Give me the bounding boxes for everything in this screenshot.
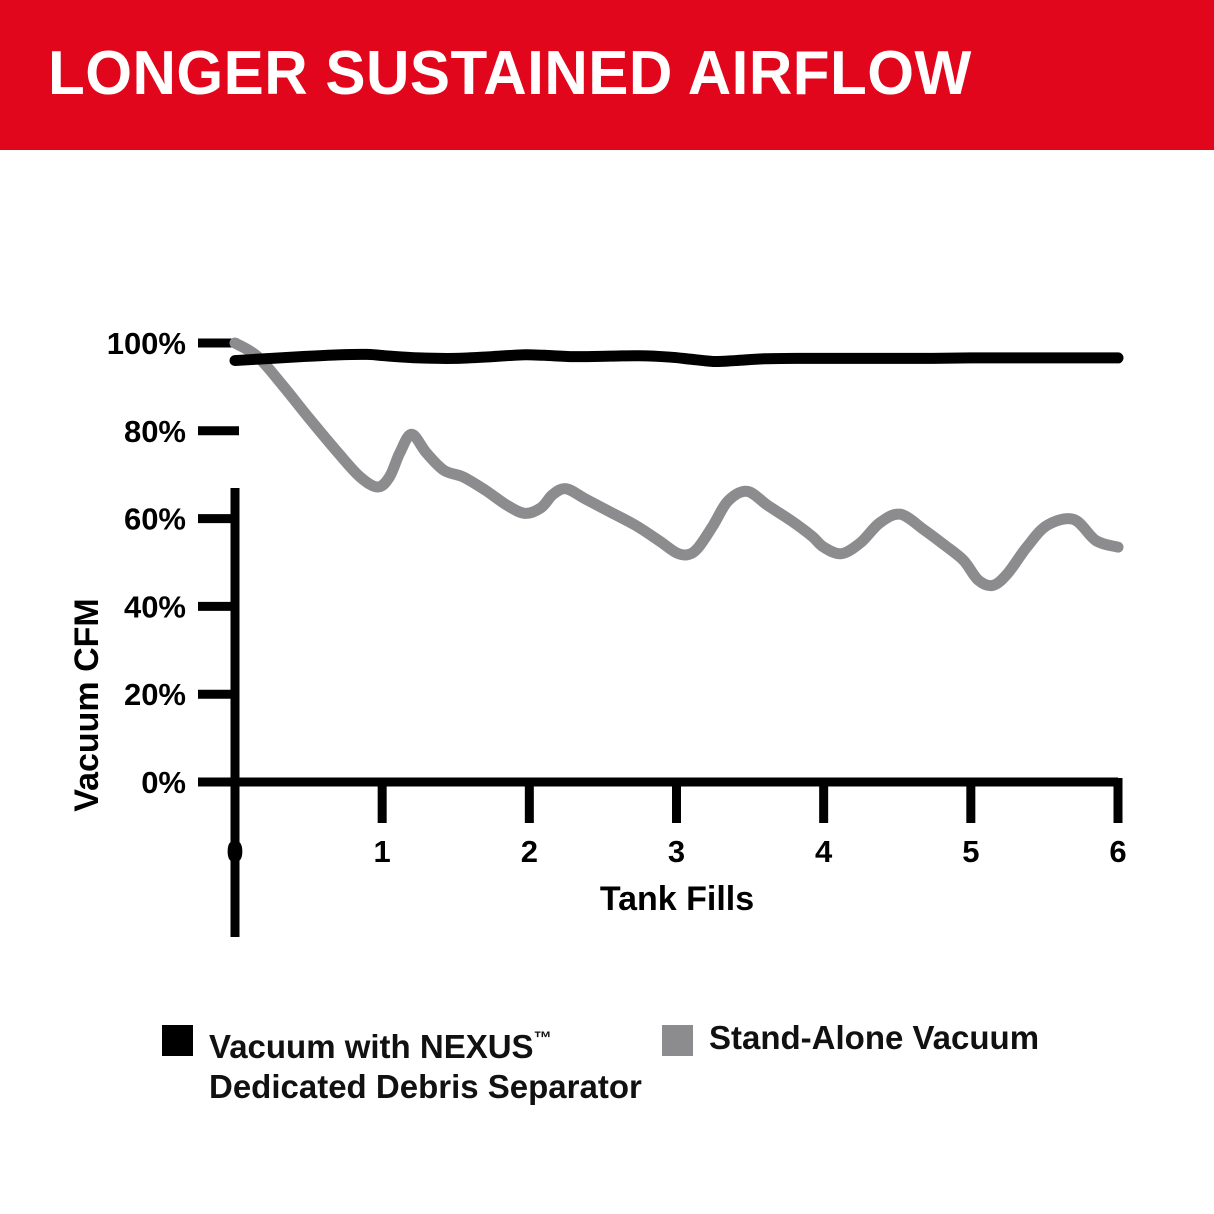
x-tick-label: 3 xyxy=(668,834,685,869)
legend-label-nexus: Vacuum with NEXUS™Dedicated Debris Separ… xyxy=(209,1018,642,1107)
series-stand-alone-vacuum-line xyxy=(235,343,1118,586)
chart-page: LONGER SUSTAINED AIRFLOW Vacuum CFM 100%… xyxy=(0,0,1214,1214)
y-tick-label: 20% xyxy=(124,677,186,712)
y-tick-label: 0% xyxy=(141,765,186,800)
y-tick-labels: 100%80%60%40%20%0% xyxy=(107,326,186,800)
legend-label-nexus-line1: Vacuum with NEXUS xyxy=(209,1028,534,1065)
x-tick-label: 4 xyxy=(815,834,833,869)
y-axis-title-text: Vacuum CFM xyxy=(68,598,106,811)
x-axis-title-text: Tank Fills xyxy=(600,880,754,918)
x-tick-label: 1 xyxy=(374,834,391,869)
series-nexus-vacuum-line xyxy=(235,354,1118,361)
chart-container: Vacuum CFM 100%80%60%40%20%0% 0123456 Ta… xyxy=(0,150,1214,1050)
banner-title: LONGER SUSTAINED AIRFLOW xyxy=(48,38,972,110)
legend-item-standalone: Stand-Alone Vacuum xyxy=(662,1018,1039,1058)
legend-item-nexus: Vacuum with NEXUS™Dedicated Debris Separ… xyxy=(162,1018,642,1107)
x-tick-label: 2 xyxy=(521,834,538,869)
chart-legend: Vacuum with NEXUS™Dedicated Debris Separ… xyxy=(0,1018,1214,1138)
y-axis-title: Vacuum CFM xyxy=(68,598,106,811)
y-tick-label: 60% xyxy=(124,502,186,537)
legend-swatch-black xyxy=(162,1025,193,1056)
y-tick-label: 40% xyxy=(124,589,186,624)
x-tick-label: 6 xyxy=(1109,834,1126,869)
header-banner: LONGER SUSTAINED AIRFLOW xyxy=(0,0,1214,150)
x-tick-labels: 0123456 xyxy=(226,834,1126,869)
y-tick-label: 100% xyxy=(107,326,186,361)
x-tick-label: 5 xyxy=(962,834,979,869)
y-tick-label: 80% xyxy=(124,414,186,449)
trademark-symbol: ™ xyxy=(534,1028,552,1048)
line-chart: Vacuum CFM 100%80%60%40%20%0% 0123456 Ta… xyxy=(0,150,1214,1050)
legend-label-standalone: Stand-Alone Vacuum xyxy=(709,1018,1039,1058)
legend-label-nexus-line2: Dedicated Debris Separator xyxy=(209,1068,642,1105)
legend-swatch-gray xyxy=(662,1025,693,1056)
